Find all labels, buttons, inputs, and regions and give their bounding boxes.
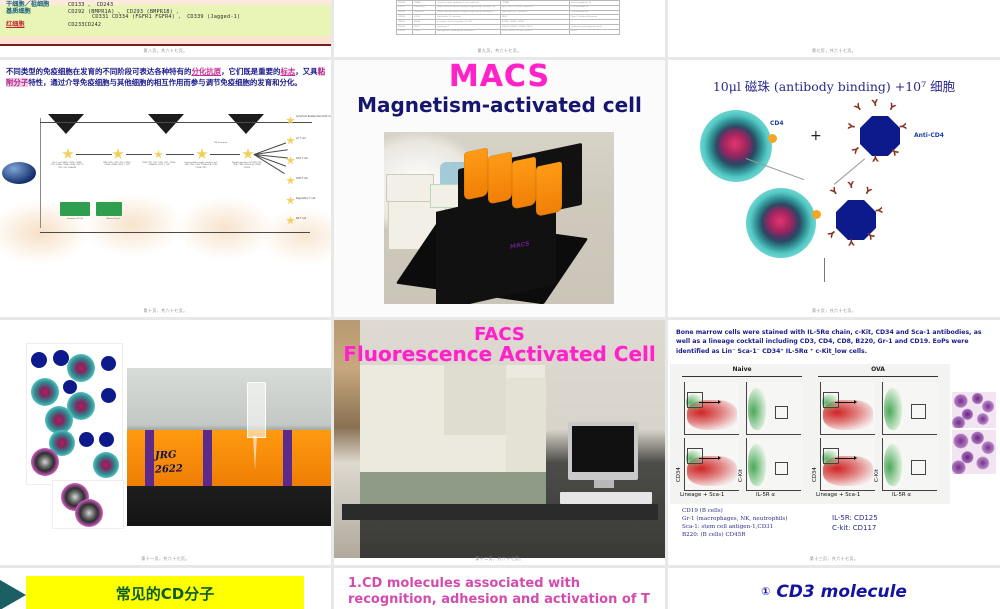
- outcome-label: CD4 T cell: [296, 158, 331, 161]
- group-title-naive: Naive: [684, 366, 800, 373]
- cell-nucleus: [764, 206, 796, 236]
- cd4-antigen-dot: [768, 134, 777, 143]
- lab-bench: [342, 504, 658, 520]
- legend-item: Gr-1 (macrophages, NK, neutrophils): [682, 516, 787, 524]
- stage-caption: Intermediate single- positive cell (ISP)…: [184, 162, 218, 169]
- stage-star-dp: [242, 148, 254, 160]
- cd4-antigen-dot: [812, 210, 821, 219]
- outcome-label: CD8 T cell: [296, 178, 331, 181]
- magnetic-bead: [63, 380, 77, 394]
- cd-row-value: CD233CD242: [68, 23, 101, 28]
- slide-thumbnail-bead-binding[interactable]: 10μl 磁珠 (antibody binding) +10⁷ 细胞 CD4 +…: [668, 60, 1000, 317]
- gate-rectangle: [911, 404, 926, 419]
- legend-marker-definitions-left: CD19 (B cells) Gr-1 (macrophages, NK, ne…: [682, 508, 787, 540]
- unlabelled-cell-group: [52, 480, 124, 529]
- stage-star-dn2: [112, 148, 124, 160]
- flow-plot-naive-cd34-top: [684, 382, 739, 435]
- group-underline: [682, 376, 802, 377]
- slide-footer: 第十二页，共六十七页。: [334, 556, 665, 562]
- plus-sign: +: [810, 128, 822, 144]
- cd3-title-text: CD3 molecule: [776, 582, 907, 602]
- flow-plot-ova-ckit-top: [882, 382, 937, 435]
- slide-thumbnail-cd-table[interactable]: 干细胞／祖细胞 CD133 、 CD243 基质细胞 CD292 (BMPR1A…: [0, 0, 331, 57]
- antibody-icon: Y: [862, 187, 872, 198]
- flow-cytometry-panel-group: Naive CD34 C-Kit: [670, 364, 950, 504]
- teal-triangle-decoration: [0, 580, 26, 609]
- macs-title: MACS: [334, 62, 665, 92]
- green-population: [748, 444, 766, 486]
- outcome-label: NK T cell: [296, 218, 331, 221]
- gate-rectangle: [775, 462, 788, 475]
- flow-plot-naive-ckit-bottom: [746, 438, 801, 491]
- legend-item: IL-5R: CD125: [832, 514, 878, 524]
- anti-cd4-label: Anti-CD4: [914, 132, 944, 139]
- x-axis-label-lineage: Lineage + Sca-1: [680, 492, 724, 498]
- cd-row-label: 基质细胞: [6, 9, 68, 16]
- stage-arrow: [76, 154, 112, 155]
- unlabelled-cell: [75, 499, 103, 527]
- bottom-label: NK Precursor: [204, 142, 238, 144]
- connector-line: [40, 122, 312, 123]
- outcome-star: [286, 116, 295, 125]
- slide-thumbnail-tcell-cd-molecules[interactable]: 1.CD molecules associated with recogniti…: [334, 568, 665, 609]
- y-axis-label-ckit: C-Kit: [874, 469, 880, 482]
- slide-thumbnail-macs[interactable]: MACS Magnetism-activated cell MACS: [334, 60, 665, 317]
- t-cell-lineage-diagram: Pro T cell (DN1) CD25, CD38, CD7, CD34, …: [0, 114, 331, 305]
- outcome-label: γδ T cell: [296, 138, 331, 141]
- column-tip: [253, 436, 257, 470]
- para-part-3: ，又具: [295, 67, 317, 76]
- cell-gene: S1PR1: [413, 29, 436, 34]
- para-highlight-marker: 标志: [280, 67, 295, 76]
- labelled-cell: [31, 378, 59, 406]
- flow-arrow: [824, 258, 825, 282]
- magnetic-bead: [79, 432, 94, 447]
- legend-item: B220: (B cells) CD45R: [682, 532, 787, 540]
- list-marker-icon: ①: [761, 585, 770, 598]
- macs-separator-photo: MACS: [384, 132, 614, 304]
- labelled-cell: [93, 452, 119, 478]
- outcome-star: [286, 196, 295, 205]
- cell-nucleus: [718, 128, 752, 160]
- para-highlight-antigen: 分化抗原: [191, 67, 221, 76]
- monitor-stand: [594, 480, 614, 488]
- magnetic-bead: [31, 352, 47, 368]
- slide-thumbnail-differentiation-antigens[interactable]: 不同类型的免疫细胞在发育的不同阶段可表达各种特有的分化抗原，它们既是重要的标志，…: [0, 60, 331, 317]
- cell-family: GPCR: [570, 29, 620, 34]
- antibody-icon: Y: [886, 103, 896, 114]
- cd3-title: ① CD3 molecule: [668, 582, 1000, 602]
- slide-thumbnail-eop-flow[interactable]: Bone marrow cells were stained with IL-5…: [668, 320, 1000, 565]
- stage-arrow: [166, 154, 194, 155]
- gate-rectangle: [687, 448, 703, 464]
- monitor-screen: [572, 426, 634, 472]
- slide-footer: 第九页，共六十七页。: [334, 48, 665, 54]
- magnetic-bead: [99, 432, 114, 447]
- outcome-label: Lymphoid Related Dendritic Cell: [296, 116, 331, 119]
- gate-rectangle: [823, 448, 839, 464]
- slide-footer: 第十页，共六十七页。: [0, 308, 331, 314]
- slide-thumbnail-cd-list-table[interactable]: CD395CIRABcytotoxic and regulatory T cel…: [334, 0, 665, 57]
- antibody-icon: Y: [872, 207, 882, 214]
- gate-rectangle: [687, 392, 703, 408]
- magnet-slot: [283, 430, 292, 486]
- slide-footer: 第十三页，共六十七页。: [668, 556, 1000, 562]
- outcome-star: [286, 136, 295, 145]
- flow-plot-ova-cd34-top: [820, 382, 875, 435]
- gate-arrow: [835, 402, 855, 403]
- antibody-icon: Y: [871, 100, 879, 110]
- para-part-2: ，它们既是重要的: [221, 67, 280, 76]
- y-axis-label-ckit: C-Kit: [738, 469, 744, 482]
- funnel-shape: [48, 114, 84, 134]
- b-cell-group: [60, 202, 90, 216]
- y-axis-label-cd34: CD34: [676, 467, 682, 482]
- tcell-cd-title: 1.CD molecules associated with recogniti…: [348, 576, 659, 609]
- cd4-label: CD4: [770, 120, 784, 127]
- slide-thumbnail-blank[interactable]: 第七页，共六十七页。: [668, 0, 1000, 57]
- table-row: CD363S1PR1sphingosine-1-phosphate recept…: [397, 29, 620, 34]
- slide-paragraph: 不同类型的免疫细胞在发育的不同阶段可表达各种特有的分化抗原，它们既是重要的标志，…: [6, 66, 325, 89]
- slide-footer: 第七页，共六十七页。: [668, 48, 1000, 54]
- keyboard: [560, 492, 652, 504]
- stage-arrow: [210, 154, 240, 155]
- funnel-shape: [148, 114, 184, 134]
- cd-row-label: 红细胞: [6, 22, 68, 29]
- slide-footer: 第十一页，共六十七页。: [0, 556, 331, 562]
- flow-plot-ova-cd34-bottom: [820, 438, 875, 491]
- cell-alias: EDG1, EDG-1, ECGF1, EDG-1,: [501, 29, 570, 34]
- facs-upper-module: [444, 365, 506, 435]
- cd-antigen-table: 干细胞／祖细胞 CD133 、 CD243 基质细胞 CD292 (BMPR1A…: [0, 0, 331, 46]
- cd-reference-table: CD395CIRABcytotoxic and regulatory T cel…: [396, 0, 620, 35]
- separation-column: [247, 382, 266, 438]
- x-axis-label-il5r: IL-5R α: [756, 492, 775, 498]
- magnetic-bead: [101, 388, 116, 403]
- cell-cd: CD363: [397, 29, 413, 34]
- stage-arrow: [126, 154, 152, 155]
- connector-line: [40, 118, 41, 228]
- stage-star-isp: [196, 148, 208, 160]
- bead-cell-schematic: [26, 343, 123, 485]
- y-axis-label-cd34: CD34: [812, 467, 818, 482]
- facs-subtitle: Fluorescence Activated Cell: [334, 342, 665, 366]
- flow-plot-naive-ckit-top: [746, 382, 801, 435]
- cd-row-value: CD133 、 CD243: [68, 3, 113, 8]
- labelled-cell: [67, 354, 95, 382]
- macs-column-photo: JRG 2622: [127, 368, 331, 526]
- flow-plot-naive-cd34-bottom: [684, 438, 739, 491]
- flow-plot-ova-ckit-bottom: [882, 438, 937, 491]
- legend-item: Sca-1: stem cell antigen-1,CD31: [682, 524, 787, 532]
- bottom-label: Immature B Cell: [58, 218, 92, 220]
- legend-item: C-kit: CD117: [832, 524, 878, 534]
- lab-box: [386, 174, 434, 202]
- macs-subtitle: Magnetism-activated cell: [334, 93, 665, 117]
- eop-description: Bone marrow cells were stained with IL-5…: [676, 328, 992, 356]
- stage-caption: Pro T cell (DN1) CD25, CD38, CD7, CD34, …: [50, 162, 84, 169]
- table-row: 红细胞 CD233CD242: [6, 22, 327, 29]
- gate-rectangle: [911, 460, 926, 475]
- group-underline: [818, 376, 938, 377]
- antibody-icon: Y: [854, 103, 865, 114]
- slide-thumbnail-cd3-molecule[interactable]: ① CD3 molecule: [668, 568, 1000, 609]
- outcome-label: Regulatory T cell: [296, 198, 331, 201]
- b-cell-group: [96, 202, 122, 216]
- slide-thumbnail-facs[interactable]: FACS Fluorescence Activated Cell 第十二页，共六…: [334, 320, 665, 565]
- gate-rectangle: [775, 406, 788, 419]
- gate-arrow: [699, 458, 719, 459]
- macs-orange-magnet: [464, 147, 488, 200]
- stage-star-dn3: [154, 150, 163, 159]
- gate-rectangle: [823, 392, 839, 408]
- bottom-arrow: [40, 232, 310, 233]
- bead-binding-title: 10μl 磁珠 (antibody binding) +10⁷ 细胞: [668, 76, 1000, 95]
- antibody-icon: Y: [848, 236, 855, 245]
- antibody-icon: Y: [896, 123, 906, 130]
- decorative-sphere: [2, 162, 36, 184]
- facs-lower-panel: [360, 472, 546, 506]
- magnetic-bead: [101, 356, 116, 371]
- magnet-slot: [203, 430, 212, 486]
- legend-item: CD19 (B cells): [682, 508, 787, 516]
- slide-thumbnail-common-cd-molecules[interactable]: 常见的CD分子: [0, 568, 331, 609]
- handwritten-label-line1: JRG: [155, 449, 177, 461]
- green-population: [884, 388, 902, 430]
- gate-arrow: [699, 402, 719, 403]
- x-axis-label-lineage: Lineage + Sca-1: [816, 492, 860, 498]
- x-axis-label-il5r: IL-5R α: [892, 492, 911, 498]
- bottom-label: Mature B cell: [96, 218, 130, 220]
- para-part-4: 特性，通过介导免疫细胞与其他细胞的相互作用而参与调节免疫细胞的发育和分化。: [28, 78, 301, 87]
- green-population: [884, 444, 902, 486]
- macs-orange-magnet: [512, 156, 536, 209]
- slide-footer: 第八页，共六十七页。: [0, 48, 331, 54]
- magnet-slot: [145, 430, 154, 486]
- stage-caption: DN3 CD1, CD2, CD5, CD7, CD38, CD44(d), C…: [142, 162, 176, 167]
- slide-thumbnail-grid: 干细胞／祖细胞 CD133 、 CD243 基质细胞 CD292 (BMPR1A…: [0, 0, 1000, 600]
- micrograph-bottom: [952, 430, 996, 474]
- gate-arrow: [835, 458, 855, 459]
- micrograph-top: [952, 392, 996, 428]
- funnel-shape: [228, 114, 264, 134]
- slide-footer: 第十页，共六十七页。: [668, 308, 1000, 314]
- cell-name: sphingosine-1-phosphate receptor 1: [436, 29, 501, 34]
- antibody-icon: Y: [847, 182, 855, 192]
- macs-orange-magnet: [536, 161, 562, 217]
- slide-thumbnail-column-separation[interactable]: JRG 2622 第十一页，共六十七页。: [0, 320, 331, 565]
- legend-marker-definitions-right: IL-5R: CD125 C-kit: CD117: [832, 514, 878, 534]
- handwritten-label-line2: 2622: [155, 463, 183, 475]
- table-row: CD331 CD334 (FGFR1 FGFR4) 、 CD339 (Jagge…: [6, 15, 327, 20]
- stage-star-pro-t: [62, 148, 74, 160]
- cd-row-value: CD331 CD334 (FGFR1 FGFR4) 、 CD339 (Jagge…: [92, 15, 240, 20]
- antibody-icon: Y: [848, 123, 858, 131]
- unlabelled-cell: [31, 448, 59, 476]
- outcome-star: [286, 176, 295, 185]
- stage-caption: DN2 CD2, CD5, CD7, CD25, CD38, CD44, CD1…: [100, 162, 134, 167]
- macs-orange-magnet: [488, 151, 512, 204]
- stage-caption: Double-positive cell (DP) CD3, CD4, CD8,…: [230, 162, 264, 169]
- para-part-1: 不同类型的免疫细胞在发育的不同阶段可表达各种特有的: [6, 67, 191, 76]
- common-cd-title: 常见的CD分子: [26, 583, 304, 604]
- group-title-ova: OVA: [820, 366, 936, 373]
- antibody-icon: Y: [872, 152, 879, 161]
- green-population: [748, 388, 766, 430]
- outcome-star: [286, 216, 295, 225]
- antibody-icon: Y: [830, 187, 841, 198]
